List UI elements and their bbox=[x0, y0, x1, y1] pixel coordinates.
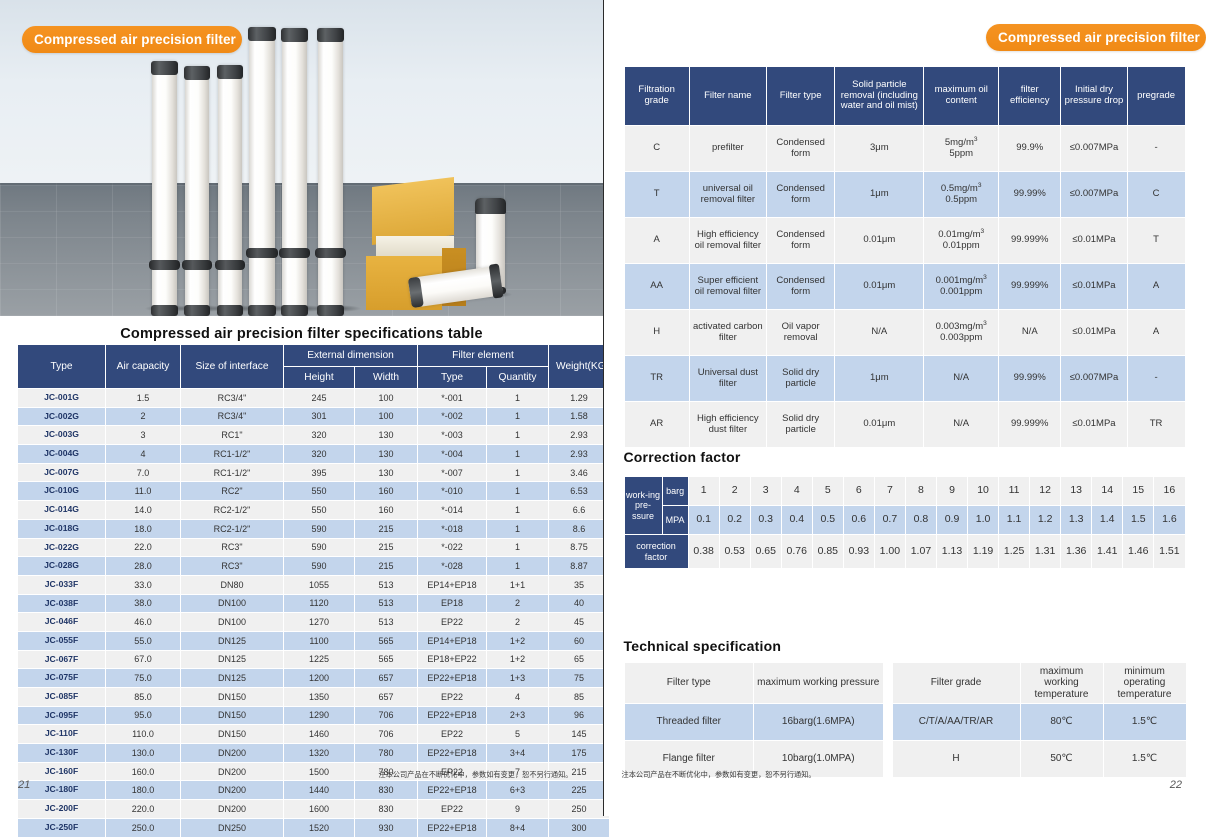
fg-cell-solid-particle: 0.01μm bbox=[835, 218, 924, 264]
correction-cell-barg: 13 bbox=[1061, 477, 1092, 506]
spec-cell: 8.87 bbox=[549, 557, 609, 576]
spec-cell: 1+2 bbox=[487, 631, 549, 650]
spec-cell: *-002 bbox=[418, 407, 487, 426]
spec-cell: RC3" bbox=[181, 538, 284, 557]
correction-cell-mpa: 0.7 bbox=[874, 506, 905, 535]
spec-cell: 2 bbox=[487, 613, 549, 632]
spec-cell: 320 bbox=[284, 426, 355, 445]
correction-unit-barg: barg bbox=[662, 477, 688, 506]
spec-cell-type: JC-085F bbox=[18, 688, 106, 707]
spec-cell: 215 bbox=[355, 538, 418, 557]
filter-element-3 bbox=[218, 65, 242, 316]
fg-col-filter-type: Filter type bbox=[766, 67, 835, 126]
correction-row-factor: correction factor0.380.530.650.760.850.9… bbox=[624, 535, 1185, 569]
spec-cell: EP22 bbox=[418, 725, 487, 744]
spec-cell: 3 bbox=[106, 426, 181, 445]
filter-element-4 bbox=[249, 27, 275, 316]
spec-table: Type Air capacity Size of interface Exte… bbox=[17, 344, 609, 838]
spec-cell: 590 bbox=[284, 519, 355, 538]
spec-cell: 1 bbox=[487, 557, 549, 576]
col-size-of-interface: Size of interface bbox=[181, 345, 284, 389]
correction-cell-factor: 1.13 bbox=[936, 535, 967, 569]
spec-cell: RC2-1/2" bbox=[181, 501, 284, 520]
fg-cell-solid-particle: 0.01μm bbox=[835, 264, 924, 310]
filter-grade-table: Filtration grade Filter name Filter type… bbox=[624, 66, 1186, 448]
spec-cell: 1 bbox=[487, 445, 549, 464]
spec-cell: 395 bbox=[284, 463, 355, 482]
fg-col-initial-dry-pressure-drop: Initial dry pressure drop bbox=[1061, 67, 1127, 126]
spec-cell: 100 bbox=[355, 407, 418, 426]
spec-cell: 60 bbox=[549, 631, 609, 650]
table-row: JC-095F95.0DN1501290706EP22+EP182+396 bbox=[18, 706, 610, 725]
correction-cell-factor: 1.00 bbox=[874, 535, 905, 569]
fg-cell-efficiency: 99.999% bbox=[999, 402, 1061, 448]
tt-cell: 1.5℃ bbox=[1103, 704, 1186, 741]
correction-cell-barg: 6 bbox=[843, 477, 874, 506]
spec-cell: 1 bbox=[487, 389, 549, 408]
spec-cell: RC1-1/2" bbox=[181, 445, 284, 464]
tt-head: Filter grade maximum working temperature… bbox=[892, 663, 1186, 704]
table-row: JC-033F33.0DN801055513EP14+EP181+135 bbox=[18, 575, 610, 594]
correction-cell-factor: 0.65 bbox=[750, 535, 781, 569]
fg-cell-efficiency: 99.999% bbox=[999, 264, 1061, 310]
spec-cell: EP22+EP18 bbox=[418, 781, 487, 800]
technical-temperature-table-container: Filter grade maximum working temperature… bbox=[892, 662, 1186, 778]
page-right: Compressed air precision filter Filtrati… bbox=[603, 0, 1206, 816]
spec-cell: DN125 bbox=[181, 669, 284, 688]
tt-cell: H bbox=[892, 741, 1020, 778]
spec-cell: 6.6 bbox=[549, 501, 609, 520]
footnote-right: 注本公司产品在不断优化中，参数如有变更，恕不另行通知。 bbox=[622, 770, 816, 780]
fg-cell-type: Condensed form bbox=[766, 218, 835, 264]
product-photo: Compressed air precision filter bbox=[0, 0, 603, 316]
table-row: JC-010G11.0RC2"550160*-01016.53 bbox=[18, 482, 610, 501]
fg-cell-oil-content: 0.003mg/m30.003ppm bbox=[924, 310, 999, 356]
spec-cell: DN125 bbox=[181, 631, 284, 650]
correction-cell-mpa: 0.9 bbox=[936, 506, 967, 535]
correction-row-barg: work-ing pre-ssurebarg123456789101112131… bbox=[624, 477, 1185, 506]
correction-cell-barg: 15 bbox=[1123, 477, 1154, 506]
spec-cell: 55.0 bbox=[106, 631, 181, 650]
table-row: JC-180F180.0DN2001440830EP22+EP186+3225 bbox=[18, 781, 610, 800]
correction-cell-mpa: 1.0 bbox=[968, 506, 999, 535]
spec-cell-type: JC-055F bbox=[18, 631, 106, 650]
correction-cell-factor: 0.93 bbox=[843, 535, 874, 569]
col-external-dimension: External dimension bbox=[284, 345, 418, 367]
spec-cell: 590 bbox=[284, 538, 355, 557]
tp-cell: 16barg(1.6MPA) bbox=[754, 704, 884, 741]
col-width: Width bbox=[355, 367, 418, 389]
spec-cell: 1320 bbox=[284, 744, 355, 763]
table-row: JC-130F130.0DN2001320780EP22+EP183+4175 bbox=[18, 744, 610, 763]
correction-cell-mpa: 0.3 bbox=[750, 506, 781, 535]
fg-cell-oil-content: 0.001mg/m30.001ppm bbox=[924, 264, 999, 310]
fg-cell-type: Solid dry particle bbox=[766, 356, 835, 402]
spec-cell: 38.0 bbox=[106, 594, 181, 613]
table-row: JC-085F85.0DN1501350657EP22485 bbox=[18, 688, 610, 707]
spec-cell: 40 bbox=[549, 594, 609, 613]
header-badge-left: Compressed air precision filter bbox=[22, 26, 242, 53]
fg-cell-type: Oil vapor removal bbox=[766, 310, 835, 356]
fg-cell-solid-particle: N/A bbox=[835, 310, 924, 356]
tp-col-max-working-pressure: maximum working pressure bbox=[754, 663, 884, 704]
fg-cell-grade: C bbox=[624, 126, 689, 172]
spec-cell: 4 bbox=[106, 445, 181, 464]
fg-cell-name: Universal dust filter bbox=[689, 356, 766, 402]
fg-cell-efficiency: N/A bbox=[999, 310, 1061, 356]
spec-cell: 28.0 bbox=[106, 557, 181, 576]
spec-cell-type: JC-067F bbox=[18, 650, 106, 669]
correction-cell-factor: 1.19 bbox=[968, 535, 999, 569]
fg-cell-name: Super efficient oil removal filter bbox=[689, 264, 766, 310]
correction-row-label-factor: correction factor bbox=[624, 535, 688, 569]
spec-cell: 33.0 bbox=[106, 575, 181, 594]
fg-cell-pressure-drop: ≤0.01MPa bbox=[1061, 310, 1127, 356]
spec-cell: 1+1 bbox=[487, 575, 549, 594]
spec-cell: 780 bbox=[355, 744, 418, 763]
tp-col-filter-type: Filter type bbox=[624, 663, 754, 704]
table-row: JC-022G22.0RC3"590215*-02218.75 bbox=[18, 538, 610, 557]
spec-cell: 75 bbox=[549, 669, 609, 688]
spec-cell: 14.0 bbox=[106, 501, 181, 520]
spec-cell: 590 bbox=[284, 557, 355, 576]
spec-cell: *-018 bbox=[418, 519, 487, 538]
table-row: JC-055F55.0DN1251100565EP14+EP181+260 bbox=[18, 631, 610, 650]
spec-cell-type: JC-110F bbox=[18, 725, 106, 744]
tt-cell: 80℃ bbox=[1020, 704, 1103, 741]
spec-cell: 1.5 bbox=[106, 389, 181, 408]
table-row: JC-004G4RC1-1/2"320130*-00412.93 bbox=[18, 445, 610, 464]
spec-cell: 45 bbox=[549, 613, 609, 632]
spec-cell: 160 bbox=[355, 501, 418, 520]
spec-cell: 1 bbox=[487, 482, 549, 501]
spec-cell: RC3/4" bbox=[181, 389, 284, 408]
col-height: Height bbox=[284, 367, 355, 389]
spec-cell-type: JC-018G bbox=[18, 519, 106, 538]
table-row: C/T/A/AA/TR/AR80℃1.5℃ bbox=[892, 704, 1186, 741]
correction-cell-factor: 0.76 bbox=[781, 535, 812, 569]
technical-temperature-table: Filter grade maximum working temperature… bbox=[892, 662, 1187, 778]
spec-cell: DN100 bbox=[181, 613, 284, 632]
spec-cell: 565 bbox=[355, 631, 418, 650]
correction-cell-factor: 1.36 bbox=[1061, 535, 1092, 569]
spec-cell: DN125 bbox=[181, 650, 284, 669]
table-row: Hactivated carbon filterOil vapor remova… bbox=[624, 310, 1185, 356]
table-row: JC-014G14.0RC2-1/2"550160*-01416.6 bbox=[18, 501, 610, 520]
spec-cell: 1290 bbox=[284, 706, 355, 725]
spec-cell: 8+4 bbox=[487, 818, 549, 837]
table-row: AHigh efficiency oil removal filterConde… bbox=[624, 218, 1185, 264]
spec-cell: 1270 bbox=[284, 613, 355, 632]
table-row: JC-003G3RC1"320130*-00312.93 bbox=[18, 426, 610, 445]
table-row: JC-007G7.0RC1-1/2"395130*-00713.46 bbox=[18, 463, 610, 482]
correction-cell-mpa: 0.6 bbox=[843, 506, 874, 535]
spec-cell-type: JC-028G bbox=[18, 557, 106, 576]
correction-cell-factor: 1.25 bbox=[999, 535, 1030, 569]
spec-cell: 320 bbox=[284, 445, 355, 464]
filter-element-2 bbox=[185, 66, 209, 316]
spec-cell: DN100 bbox=[181, 594, 284, 613]
fg-cell-solid-particle: 3μm bbox=[835, 126, 924, 172]
spec-cell: EP22+EP18 bbox=[418, 744, 487, 763]
spec-cell: 85 bbox=[549, 688, 609, 707]
spec-cell: 11.0 bbox=[106, 482, 181, 501]
correction-cell-factor: 1.31 bbox=[1030, 535, 1061, 569]
spec-cell: 513 bbox=[355, 575, 418, 594]
spec-cell-type: JC-095F bbox=[18, 706, 106, 725]
spec-cell: 4 bbox=[487, 688, 549, 707]
spec-cell-type: JC-014G bbox=[18, 501, 106, 520]
correction-cell-mpa: 1.4 bbox=[1092, 506, 1123, 535]
fg-col-solid-particle-removal: Solid particle removal (including water … bbox=[835, 67, 924, 126]
spec-cell: 250.0 bbox=[106, 818, 181, 837]
technical-pressure-table: Filter type maximum working pressure Thr… bbox=[624, 662, 884, 778]
correction-factor-table-body: work-ing pre-ssurebarg123456789101112131… bbox=[624, 477, 1185, 569]
table-row: JC-075F75.0DN1251200657EP22+EP181+375 bbox=[18, 669, 610, 688]
correction-cell-mpa: 0.2 bbox=[719, 506, 750, 535]
col-weight: Weight(KG) bbox=[549, 345, 609, 389]
spec-cell: 1520 bbox=[284, 818, 355, 837]
spec-cell: 1225 bbox=[284, 650, 355, 669]
spec-cell: 657 bbox=[355, 688, 418, 707]
fg-cell-pregrade: C bbox=[1127, 172, 1185, 218]
tt-header-row: Filter grade maximum working temperature… bbox=[892, 663, 1186, 704]
spec-cell: 180.0 bbox=[106, 781, 181, 800]
spec-cell-type: JC-038F bbox=[18, 594, 106, 613]
correction-cell-mpa: 0.5 bbox=[812, 506, 843, 535]
spec-cell: 1200 bbox=[284, 669, 355, 688]
filter-element-1 bbox=[152, 61, 177, 316]
fg-cell-type: Solid dry particle bbox=[766, 402, 835, 448]
footnote-left: 注本公司产品在不断优化中，参数如有变更，恕不另行通知。 bbox=[378, 770, 572, 780]
page-number-left: 21 bbox=[18, 779, 30, 791]
spec-cell: 1.58 bbox=[549, 407, 609, 426]
spec-cell: EP22 bbox=[418, 613, 487, 632]
spec-cell: 1 bbox=[487, 407, 549, 426]
fg-cell-oil-content: 0.01mg/m30.01ppm bbox=[924, 218, 999, 264]
spec-cell-type: JC-002G bbox=[18, 407, 106, 426]
spec-cell: 3+4 bbox=[487, 744, 549, 763]
spec-cell-type: JC-130F bbox=[18, 744, 106, 763]
fg-cell-grade: AR bbox=[624, 402, 689, 448]
spec-cell: EP18+EP22 bbox=[418, 650, 487, 669]
correction-cell-barg: 10 bbox=[968, 477, 999, 506]
spec-cell: 18.0 bbox=[106, 519, 181, 538]
correction-cell-mpa: 0.4 bbox=[781, 506, 812, 535]
correction-cell-factor: 0.53 bbox=[719, 535, 750, 569]
fg-col-pregrade: pregrade bbox=[1127, 67, 1185, 126]
correction-row-label-pressure: work-ing pre-ssure bbox=[624, 477, 662, 535]
fg-cell-solid-particle: 1μm bbox=[835, 172, 924, 218]
col-element-type: Type bbox=[418, 367, 487, 389]
spec-cell: 2 bbox=[106, 407, 181, 426]
correction-cell-factor: 1.51 bbox=[1154, 535, 1185, 569]
spec-cell: 7.0 bbox=[106, 463, 181, 482]
spec-cell-type: JC-004G bbox=[18, 445, 106, 464]
fg-cell-pressure-drop: ≤0.007MPa bbox=[1061, 172, 1127, 218]
spec-cell: 6+3 bbox=[487, 781, 549, 800]
fg-cell-pregrade: TR bbox=[1127, 402, 1185, 448]
fg-cell-efficiency: 99.9% bbox=[999, 126, 1061, 172]
spec-cell: *-028 bbox=[418, 557, 487, 576]
tp-cell: Threaded filter bbox=[624, 704, 754, 741]
fg-cell-pressure-drop: ≤0.007MPa bbox=[1061, 126, 1127, 172]
spec-cell-type: JC-010G bbox=[18, 482, 106, 501]
spec-cell-type: JC-250F bbox=[18, 818, 106, 837]
spec-cell: 1120 bbox=[284, 594, 355, 613]
table-row: JC-250F250.0DN2501520930EP22+EP188+4300 bbox=[18, 818, 610, 837]
correction-factor-table: work-ing pre-ssurebarg123456789101112131… bbox=[624, 476, 1186, 569]
spec-cell: DN150 bbox=[181, 688, 284, 707]
tp-header-row: Filter type maximum working pressure bbox=[624, 663, 883, 704]
spec-cell: DN80 bbox=[181, 575, 284, 594]
fg-cell-efficiency: 99.99% bbox=[999, 356, 1061, 402]
spec-cell: 1100 bbox=[284, 631, 355, 650]
spec-header-row-1: Type Air capacity Size of interface Exte… bbox=[18, 345, 610, 367]
spec-cell: EP22+EP18 bbox=[418, 706, 487, 725]
spec-cell: 65 bbox=[549, 650, 609, 669]
spec-cell: 215 bbox=[355, 519, 418, 538]
spec-cell: 1 bbox=[487, 426, 549, 445]
correction-cell-barg: 11 bbox=[999, 477, 1030, 506]
spec-cell: EP22 bbox=[418, 688, 487, 707]
spec-cell: 245 bbox=[284, 389, 355, 408]
spec-cell: 550 bbox=[284, 501, 355, 520]
technical-specification-heading: Technical specification bbox=[624, 638, 782, 654]
spec-cell-type: JC-033F bbox=[18, 575, 106, 594]
spec-cell: 130 bbox=[355, 463, 418, 482]
col-filter-element: Filter element bbox=[418, 345, 549, 367]
spec-cell: 1 bbox=[487, 538, 549, 557]
spec-cell: 46.0 bbox=[106, 613, 181, 632]
spec-cell-type: JC-022G bbox=[18, 538, 106, 557]
spec-cell: 550 bbox=[284, 482, 355, 501]
table-row: JC-001G1.5RC3/4"245100*-00111.29 bbox=[18, 389, 610, 408]
spec-cell: 2.93 bbox=[549, 426, 609, 445]
spec-cell: RC3/4" bbox=[181, 407, 284, 426]
spec-cell: 1350 bbox=[284, 688, 355, 707]
spec-table-container: Type Air capacity Size of interface Exte… bbox=[17, 344, 609, 838]
spec-cell: EP18 bbox=[418, 594, 487, 613]
correction-cell-barg: 8 bbox=[905, 477, 936, 506]
correction-cell-barg: 4 bbox=[781, 477, 812, 506]
correction-cell-barg: 5 bbox=[812, 477, 843, 506]
correction-cell-factor: 0.85 bbox=[812, 535, 843, 569]
spec-cell: 2.93 bbox=[549, 445, 609, 464]
spec-table-head: Type Air capacity Size of interface Exte… bbox=[18, 345, 610, 389]
spec-cell: DN200 bbox=[181, 762, 284, 781]
spec-cell: RC2" bbox=[181, 482, 284, 501]
spec-cell: 6.53 bbox=[549, 482, 609, 501]
fg-col-filter-name: Filter name bbox=[689, 67, 766, 126]
correction-unit-mpa: MPA bbox=[662, 506, 688, 535]
fg-cell-pressure-drop: ≤0.01MPa bbox=[1061, 218, 1127, 264]
spec-cell: DN250 bbox=[181, 818, 284, 837]
table-row: ARHigh efficiency dust filterSolid dry p… bbox=[624, 402, 1185, 448]
fg-cell-oil-content: N/A bbox=[924, 402, 999, 448]
spec-cell: 67.0 bbox=[106, 650, 181, 669]
table-row: JC-110F110.0DN1501460706EP225145 bbox=[18, 725, 610, 744]
tp-head: Filter type maximum working pressure bbox=[624, 663, 883, 704]
correction-cell-factor: 1.41 bbox=[1092, 535, 1123, 569]
filter-grade-table-container: Filtration grade Filter name Filter type… bbox=[624, 66, 1186, 448]
spec-cell: 565 bbox=[355, 650, 418, 669]
spec-cell-type: JC-003G bbox=[18, 426, 106, 445]
fg-cell-grade: H bbox=[624, 310, 689, 356]
spec-cell-type: JC-046F bbox=[18, 613, 106, 632]
tt-col-filter-grade: Filter grade bbox=[892, 663, 1020, 704]
spec-cell: 96 bbox=[549, 706, 609, 725]
table-row: TRUniversal dust filterSolid dry particl… bbox=[624, 356, 1185, 402]
spec-cell: *-003 bbox=[418, 426, 487, 445]
fg-cell-efficiency: 99.99% bbox=[999, 172, 1061, 218]
table-row: JC-028G28.0RC3"590215*-02818.87 bbox=[18, 557, 610, 576]
spec-cell: 2 bbox=[487, 594, 549, 613]
tp-body: Threaded filter16barg(1.6MPA)Flange filt… bbox=[624, 704, 883, 778]
filter-element-6 bbox=[318, 28, 343, 316]
filter-grade-table-body: CprefilterCondensed form3μm5mg/m35ppm99.… bbox=[624, 126, 1185, 448]
fg-cell-pregrade: - bbox=[1127, 356, 1185, 402]
correction-factor-heading: Correction factor bbox=[624, 449, 741, 465]
spec-cell: 1440 bbox=[284, 781, 355, 800]
spec-cell: 225 bbox=[549, 781, 609, 800]
fg-cell-pressure-drop: ≤0.01MPa bbox=[1061, 402, 1127, 448]
col-air-capacity: Air capacity bbox=[106, 345, 181, 389]
spec-cell-type: JC-180F bbox=[18, 781, 106, 800]
fg-cell-name: universal oil removal filter bbox=[689, 172, 766, 218]
table-row: AASuper efficient oil removal filterCond… bbox=[624, 264, 1185, 310]
correction-cell-barg: 16 bbox=[1154, 477, 1185, 506]
correction-cell-mpa: 0.8 bbox=[905, 506, 936, 535]
spec-cell: *-010 bbox=[418, 482, 487, 501]
correction-cell-factor: 1.46 bbox=[1123, 535, 1154, 569]
spec-cell: 110.0 bbox=[106, 725, 181, 744]
spec-cell: 300 bbox=[549, 818, 609, 837]
table-row: Threaded filter16barg(1.6MPA) bbox=[624, 704, 883, 741]
correction-cell-mpa: 1.3 bbox=[1061, 506, 1092, 535]
fg-cell-type: Condensed form bbox=[766, 172, 835, 218]
spec-cell: *-001 bbox=[418, 389, 487, 408]
spec-cell: RC1-1/2" bbox=[181, 463, 284, 482]
spec-cell: 8.75 bbox=[549, 538, 609, 557]
spec-cell: 130.0 bbox=[106, 744, 181, 763]
spec-table-title: Compressed air precision filter specific… bbox=[0, 326, 603, 342]
col-type: Type bbox=[18, 345, 106, 389]
spec-cell: RC1" bbox=[181, 426, 284, 445]
spec-cell: DN200 bbox=[181, 781, 284, 800]
table-row: JC-046F46.0DN1001270513EP22245 bbox=[18, 613, 610, 632]
spec-cell: EP14+EP18 bbox=[418, 575, 487, 594]
page-number-right: 22 bbox=[1170, 779, 1182, 791]
spec-cell: DN150 bbox=[181, 706, 284, 725]
fg-cell-efficiency: 99.999% bbox=[999, 218, 1061, 264]
fg-cell-pregrade: A bbox=[1127, 310, 1185, 356]
spec-cell-type: JC-160F bbox=[18, 762, 106, 781]
fg-cell-pregrade: T bbox=[1127, 218, 1185, 264]
correction-cell-mpa: 1.1 bbox=[999, 506, 1030, 535]
fg-cell-solid-particle: 0.01μm bbox=[835, 402, 924, 448]
page-left: Compressed air precision filter Compress… bbox=[0, 0, 603, 816]
catalog-spread: Compressed air precision filter Compress… bbox=[0, 0, 1206, 816]
spec-cell: 175 bbox=[549, 744, 609, 763]
fg-cell-grade: TR bbox=[624, 356, 689, 402]
spec-cell: 513 bbox=[355, 613, 418, 632]
spec-cell: 1 bbox=[487, 501, 549, 520]
fg-cell-pressure-drop: ≤0.007MPa bbox=[1061, 356, 1127, 402]
correction-cell-mpa: 1.2 bbox=[1030, 506, 1061, 535]
fg-col-filter-efficiency: filter efficiency bbox=[999, 67, 1061, 126]
tt-cell: 1.5℃ bbox=[1103, 741, 1186, 778]
